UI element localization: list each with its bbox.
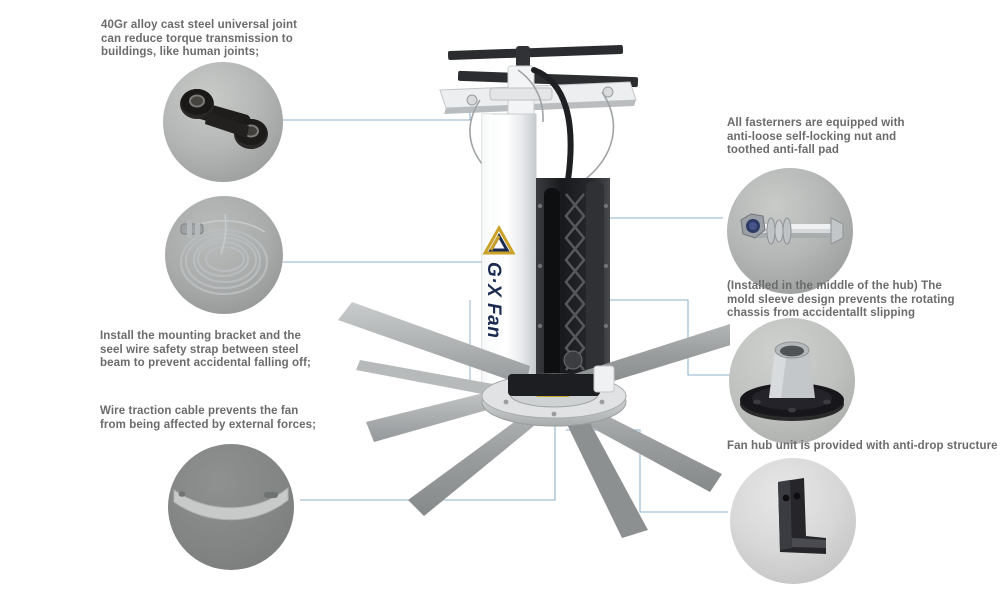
fan-vector bbox=[330, 30, 730, 550]
bolt-assembly bbox=[741, 214, 843, 244]
annotation-mold-sleeve: (Installed in the middle of the hub) The… bbox=[727, 280, 999, 321]
motor-bottom-cap bbox=[508, 374, 600, 396]
diagram-canvas: G·X Fan bbox=[0, 0, 1000, 601]
annotation-fasteners: All fasterners are equipped with anti-lo… bbox=[727, 117, 997, 158]
annotation-safety-wire: Install the mounting bracket and the see… bbox=[100, 330, 390, 371]
traction-cable-photo bbox=[168, 444, 294, 570]
annotation-universal-joint: 40Gr alloy cast steel universal joint ca… bbox=[101, 19, 381, 60]
universal-joint-photo bbox=[163, 62, 283, 182]
anti-drop-bracket bbox=[778, 478, 826, 554]
gx-fan-wordmark: G·X Fan bbox=[482, 262, 504, 338]
annotation-traction-cable: Wire traction cable prevents the fan fro… bbox=[100, 405, 390, 432]
gearbox-column bbox=[536, 178, 610, 390]
safety-wire-photo bbox=[165, 196, 283, 314]
universal-joint-part bbox=[180, 89, 268, 149]
hvls-fan-illustration: G·X Fan bbox=[330, 30, 730, 550]
gx-fan-emblem bbox=[482, 225, 516, 264]
anti-drop-bracket-photo bbox=[730, 458, 856, 584]
mold-sleeve-photo bbox=[729, 318, 855, 444]
wire-clamp bbox=[181, 220, 203, 238]
sleeve-flange bbox=[740, 342, 844, 421]
traction-strap bbox=[174, 488, 288, 520]
annotation-anti-drop: Fan hub unit is provided with anti-drop … bbox=[727, 440, 999, 454]
fastener-bolt-photo bbox=[727, 168, 853, 294]
